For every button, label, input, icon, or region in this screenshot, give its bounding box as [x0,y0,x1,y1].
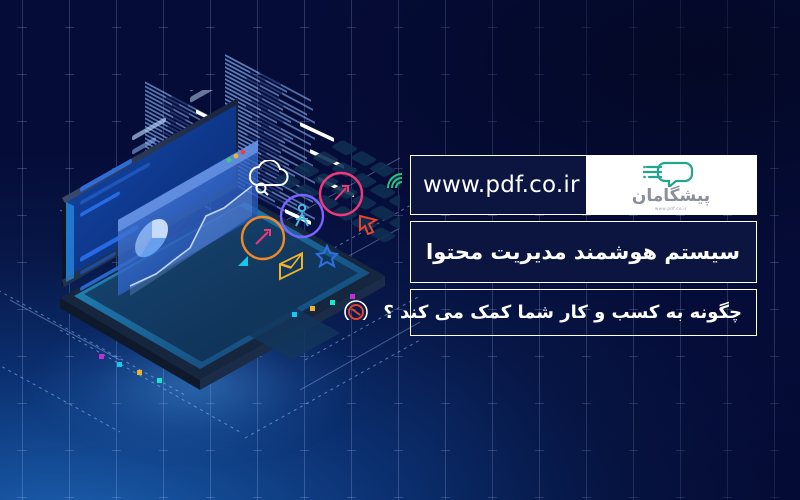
cloud-search-icon [250,160,288,195]
target-pink-icon [320,173,362,215]
brand-logo: پیشگامان www.pdf.co.ir [632,161,710,211]
url-logo-panel: www.pdf.co.ir [410,155,757,215]
text-panel-group: www.pdf.co.ir [410,155,757,338]
logo-sub-url: www.pdf.co.ir [655,206,687,211]
speech-bubble-icon [643,161,699,187]
url-box: www.pdf.co.ir [411,156,586,214]
isometric-laptop-illustration [0,60,420,460]
star-blue-icon [317,246,337,266]
website-url[interactable]: www.pdf.co.ir [423,172,580,198]
headline-panel-primary: سیستم هوشمند مدیریت محتوا [410,221,757,283]
person-purple-icon [281,195,323,237]
headline-panel-secondary: چگونه به کسب و کار شما کمک می کند ؟ [410,289,757,336]
mail-yellow-icon [280,253,302,279]
headline-line-2: چگونه به کسب و کار شما کمک می کند ؟ [383,302,742,323]
gear-orange-icon [242,217,284,259]
logo-wordmark: پیشگامان [632,188,710,205]
arrow-green-icon [238,256,248,266]
signal-green-icon [388,174,402,188]
accent-dots-left [95,350,235,390]
headline-line-1: سیستم هوشمند مدیریت محتوا [426,240,740,264]
banner-canvas: www.pdf.co.ir [0,0,800,500]
cursor-red-icon [360,216,376,234]
logo-box[interactable]: پیشگامان www.pdf.co.ir [586,156,756,214]
